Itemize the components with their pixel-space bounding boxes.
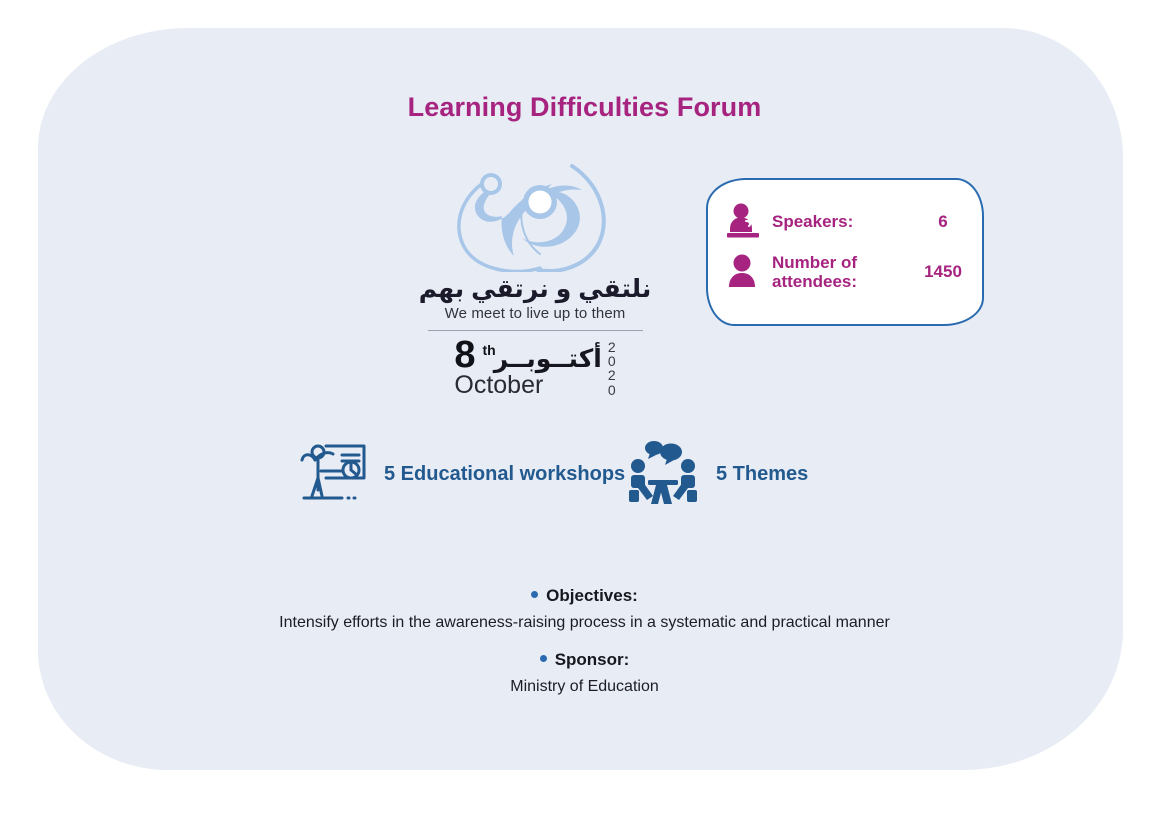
stat-value-attendees: 1450 [912,262,974,282]
year-digit-2: 0 [608,354,616,368]
event-month-arabic: أكتــوبــر [494,347,602,372]
year-digit-3: 2 [608,368,616,382]
event-date-arabic-line: أكتــوبــر th 8 [454,336,601,374]
event-month-english: October [454,372,543,398]
infographic-canvas: Learning Difficulties Forum نل [0,0,1169,827]
feature-workshops: 5 Educational workshops [296,438,625,510]
sponsor-body: Ministry of Education [0,675,1169,698]
objectives-heading: Objectives: [546,586,638,605]
speaker-podium-icon [724,202,762,242]
feature-label-workshops: 5 Educational workshops [384,461,625,487]
objectives-section: Objectives: Intensify efforts in the awa… [0,585,1169,634]
discussion-table-icon [626,438,700,510]
feature-label-themes: 5 Themes [716,461,808,487]
stat-value-speakers: 6 [912,212,974,232]
two-figures-logo [400,160,670,272]
page-title: Learning Difficulties Forum [0,92,1169,123]
logo-tagline-arabic: نلتقي و نرتقي بهم [400,275,670,304]
year-digit-4: 0 [608,383,616,397]
logo-tagline-english: We meet to live up to them [400,305,670,322]
bullet-icon [540,655,547,662]
stat-row-speakers: Speakers: 6 [724,202,974,242]
year-digit-1: 2 [608,340,616,354]
objectives-body: Intensify efforts in the awareness-raisi… [0,611,1169,634]
event-day-number: 8 [454,336,475,374]
stats-card: Speakers: 6 Number of attendees: 1450 [706,178,984,326]
sponsor-heading: Sponsor: [555,650,630,669]
feature-themes: 5 Themes [626,438,808,510]
stat-label-speakers: Speakers: [772,212,912,231]
bullet-icon [531,591,538,598]
event-date: 2 0 2 0 أكتــوبــر th 8 October [400,336,670,398]
person-icon [724,252,762,292]
sponsor-section: Sponsor: Ministry of Education [0,649,1169,698]
event-date-main: أكتــوبــر th 8 October [454,336,601,398]
stat-label-attendees: Number of attendees: [772,253,912,291]
logo-block: نلتقي و نرتقي بهم We meet to live up to … [400,160,670,398]
event-year: 2 0 2 0 [608,340,616,397]
event-day-ordinal: th [483,343,496,357]
sponsor-heading-row: Sponsor: [0,649,1169,672]
presenter-board-icon [296,438,370,510]
divider [428,330,643,331]
stat-row-attendees: Number of attendees: 1450 [724,252,974,292]
objectives-heading-row: Objectives: [0,585,1169,608]
